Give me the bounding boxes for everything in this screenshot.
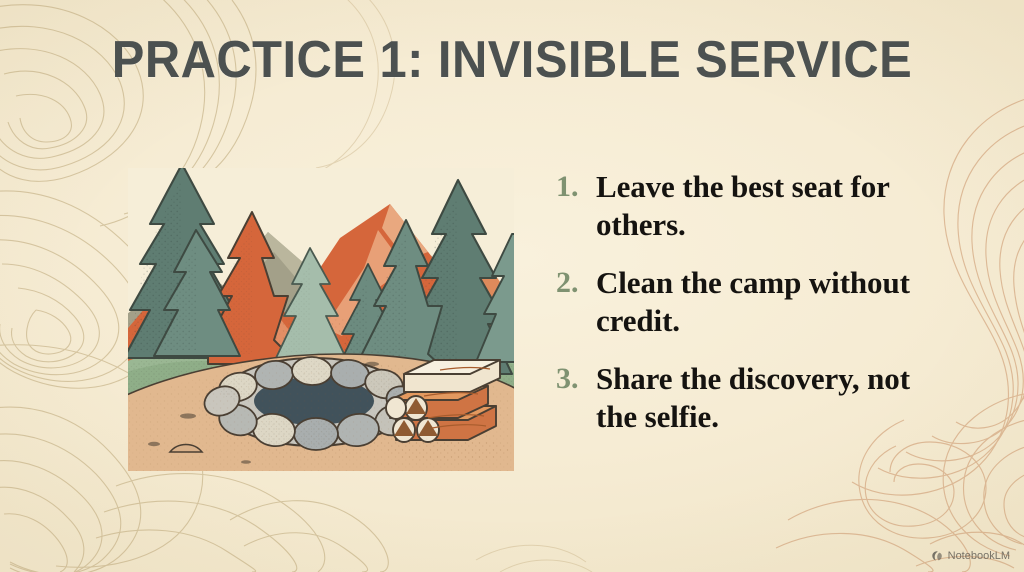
list-item: 3. Share the discovery, not the selfie.	[556, 360, 946, 436]
list-item-number: 3.	[556, 360, 596, 398]
notebooklm-label: NotebookLM	[948, 550, 1010, 562]
slide-canvas: PRACTICE 1: INVISIBLE SERVICE	[0, 0, 1024, 572]
list-item: 1. Leave the best seat for others.	[556, 168, 946, 244]
list-item: 2. Clean the camp without credit.	[556, 264, 946, 340]
list-item-number: 2.	[556, 264, 596, 302]
practice-list: 1. Leave the best seat for others. 2. Cl…	[556, 168, 946, 436]
notebooklm-watermark: NotebookLM	[931, 550, 1010, 562]
list-item-text: Leave the best seat for others.	[596, 168, 946, 244]
notebooklm-logo-icon	[931, 550, 943, 562]
page-title: PRACTICE 1: INVISIBLE SERVICE	[31, 33, 994, 88]
list-item-text: Clean the camp without credit.	[596, 264, 946, 340]
list-item-text: Share the discovery, not the selfie.	[596, 360, 946, 436]
campsite-illustration	[128, 168, 514, 471]
firewood-stack	[386, 360, 510, 462]
list-item-number: 1.	[556, 168, 596, 206]
